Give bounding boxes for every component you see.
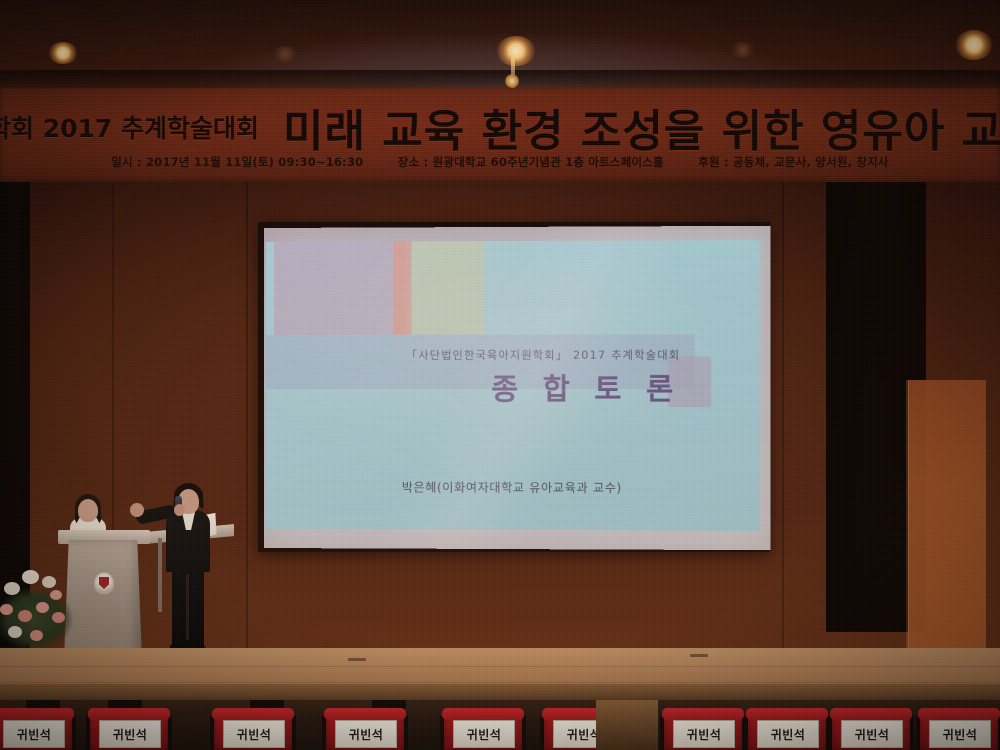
flower	[30, 630, 43, 641]
slide-subtitle: 「사단법인한국육아지원학회」 2017 추계학술대회	[266, 347, 680, 363]
seat-crest	[662, 708, 744, 720]
seat-placard: 귀빈석	[453, 720, 515, 748]
flower	[52, 612, 65, 623]
seat-crest	[830, 708, 912, 720]
flower	[18, 610, 32, 622]
audience-seat[interactable]: 귀빈석	[210, 704, 296, 750]
pendant-bulb-icon	[505, 74, 519, 88]
speaker-right-mic-hand	[174, 504, 185, 516]
audience-seat[interactable]: 귀빈석	[660, 704, 746, 750]
audience-seat[interactable]: 귀빈석	[0, 704, 76, 750]
auditorium-photo: 학회 2017 추계학술대회 미래 교육 환경 조성을 위한 영유아 교육 일시…	[0, 0, 1000, 750]
seat-crest	[88, 708, 170, 720]
slide-salmon-strip	[393, 241, 411, 334]
seat-crest	[746, 708, 828, 720]
seat-crest	[324, 708, 406, 720]
audience-seat[interactable]: 귀빈석	[916, 704, 1000, 750]
wall-panel-edge	[906, 380, 909, 648]
flower	[42, 576, 56, 588]
seat-placard: 귀빈석	[757, 720, 819, 748]
speaker-right-hand	[130, 503, 144, 517]
seat-placard: 귀빈석	[841, 720, 903, 748]
ceiling-light-dim-icon	[730, 42, 756, 58]
seat-placard: 귀빈석	[673, 720, 735, 748]
seat-placard: 귀빈석	[223, 720, 285, 748]
banner-headline-row: 학회 2017 추계학술대회 미래 교육 환경 조성을 위한 영유아 교육	[0, 98, 1000, 156]
seat-placard: 귀빈석	[335, 720, 397, 748]
projection-screen: 「사단법인한국육아지원학회」 2017 추계학술대회 종 합 토 론 박은혜(이…	[264, 226, 771, 550]
slide-lavender-block	[274, 241, 405, 335]
slide-title: 종 합 토 론	[266, 366, 680, 408]
seat-crest	[442, 708, 524, 720]
center-aisle	[596, 700, 658, 750]
banner-details-row: 일시 : 2017년 11월 11일(토) 09:30~16:30 장소 : 원…	[0, 154, 1000, 170]
slide-presenter: 박은혜(이화여자대학교 유아교육과 교수)	[266, 478, 760, 496]
banner-title-text: 미래 교육 환경 조성을 위한 영유아 교육	[283, 95, 1000, 159]
wall-seam	[782, 182, 784, 652]
seat-crest	[918, 708, 1000, 720]
ceiling-light-icon	[496, 36, 536, 66]
flower	[4, 582, 20, 595]
slide-green-block	[411, 241, 484, 335]
ceiling-light-icon	[955, 30, 993, 60]
seat-placard: 귀빈석	[99, 720, 161, 748]
secondary-lectern-leg	[158, 538, 162, 612]
flower	[36, 602, 49, 613]
floor-vent	[348, 658, 366, 661]
floor-vent	[690, 654, 708, 657]
floor-plank-line	[0, 682, 1000, 683]
banner-place: 장소 : 원광대학교 60주년기념관 1층 아트스페이스홀	[398, 155, 664, 169]
speaker-right-legs	[172, 568, 204, 646]
ceiling	[0, 0, 1000, 90]
flower	[8, 626, 22, 638]
seat-placard: 귀빈석	[929, 720, 991, 748]
wall-seam	[246, 182, 248, 652]
ceiling-light-dim-icon	[272, 46, 298, 62]
university-crest-icon	[94, 572, 114, 594]
banner-datetime: 일시 : 2017년 11월 11일(토) 09:30~16:30	[111, 155, 363, 169]
seat-crest	[212, 708, 294, 720]
flower	[22, 570, 39, 584]
audience-seat[interactable]: 귀빈석	[828, 704, 914, 750]
ceiling-light-icon	[48, 42, 78, 64]
banner-org-text: 학회 2017 추계학술대회	[0, 109, 259, 145]
audience-seat[interactable]: 귀빈석	[86, 704, 172, 750]
banner-sponsor: 후원 : 공동체, 교문사, 양서원, 창지사	[698, 155, 888, 169]
seat-crest	[0, 708, 74, 720]
flower	[0, 604, 13, 615]
presentation-slide: 「사단법인한국육아지원학회」 2017 추계학술대회 종 합 토 론 박은혜(이…	[266, 240, 760, 531]
audience-seat[interactable]: 귀빈석	[440, 704, 526, 750]
floor-plank-line	[0, 666, 1000, 667]
audience-seat[interactable]: 귀빈석	[322, 704, 408, 750]
event-banner: 학회 2017 추계학술대회 미래 교육 환경 조성을 위한 영유아 교육 일시…	[0, 88, 1000, 184]
audience-seat[interactable]: 귀빈석	[744, 704, 830, 750]
audience-seating: 귀빈석 귀빈석 귀빈석 귀빈석 귀빈석	[0, 700, 1000, 750]
wall-panel-lit	[908, 380, 986, 648]
speaker-left-head	[78, 499, 98, 522]
flower	[50, 590, 62, 600]
seat-placard: 귀빈석	[3, 720, 65, 748]
